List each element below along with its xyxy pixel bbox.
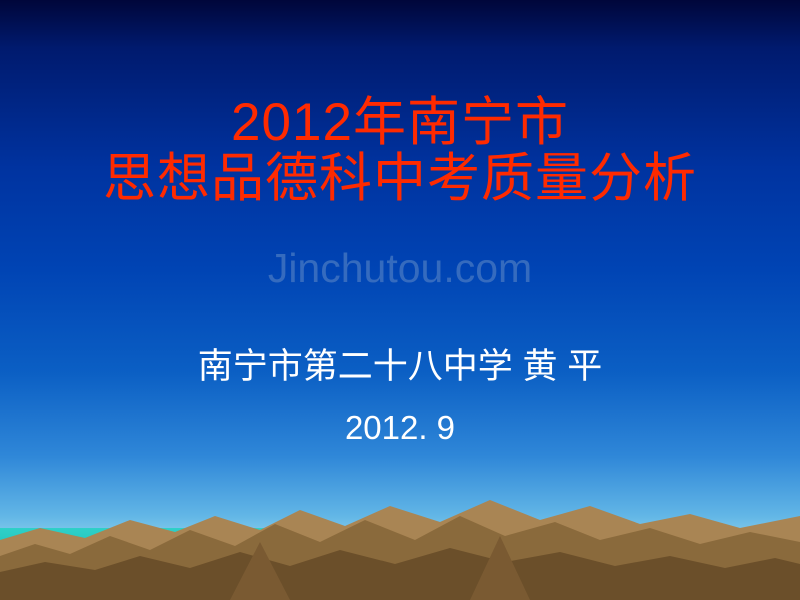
slide-subtitle-block: 南宁市第二十八中学 黄 平 2012. 9 — [0, 340, 800, 453]
title-line-2: 思想品德科中考质量分析 — [0, 151, 800, 207]
mountain-range-graphic — [0, 470, 800, 600]
slide-title: 2012年南宁市 思想品德科中考质量分析 — [0, 95, 800, 207]
title-line-1: 2012年南宁市 — [0, 95, 800, 151]
watermark-text: Jinchutou.com — [0, 245, 800, 292]
presentation-slide: 2012年南宁市 思想品德科中考质量分析 Jinchutou.com 南宁市第二… — [0, 0, 800, 600]
date-line: 2012. 9 — [0, 402, 800, 453]
author-line: 南宁市第二十八中学 黄 平 — [0, 340, 800, 394]
